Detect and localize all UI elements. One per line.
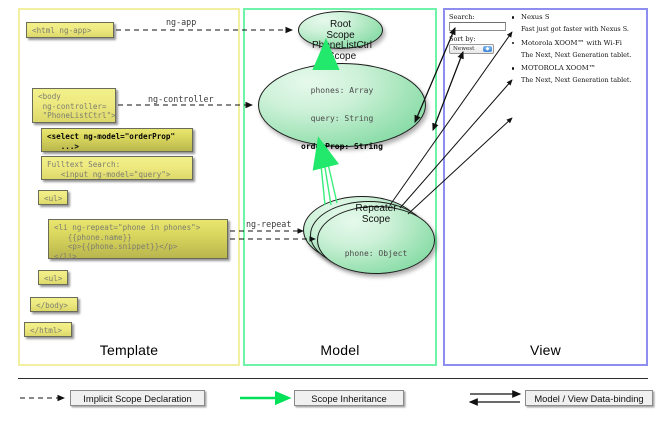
scope-repeater-title-line-2: Scope	[362, 214, 390, 226]
bullet-icon	[512, 42, 514, 44]
scope-property-query: query: String	[301, 114, 383, 123]
panel-label-view: View	[445, 342, 646, 358]
legend-scope-inheritance: Scope Inheritance	[294, 390, 404, 406]
code-box-input-tag: Fulltext Search: <input ng-model="query"…	[41, 156, 193, 180]
edge-label-ng-repeat: ng-repeat	[246, 219, 291, 229]
scope-property-orderprop: orderProp: String	[301, 142, 383, 151]
list-item[interactable]: Motorola XOOM™ with Wi-Fi The Next, Next…	[512, 39, 644, 59]
phone-snippet: The Next, Next Generation tablet.	[521, 76, 644, 84]
scope-property-phones: phones: Array	[301, 86, 383, 95]
scope-repeater: Repeater Scope phone: Object	[317, 206, 435, 274]
phone-name: MOTOROLA XOOM™	[521, 64, 644, 73]
chevron-updown-icon: ◆	[483, 46, 492, 52]
search-input[interactable]	[449, 22, 506, 31]
bullet-icon	[512, 67, 514, 69]
scope-phonelistctrl: PhoneListCtrl Scope phones: Array query:…	[258, 63, 426, 147]
search-label: Search:	[449, 13, 475, 21]
phone-snippet: The Next, Next Generation tablet.	[521, 51, 644, 59]
code-box-html-tag: <html ng-app>	[26, 22, 114, 38]
scope-phonelistctrl-properties: phones: Array query: String orderProp: S…	[301, 67, 383, 170]
phone-name: Motorola XOOM™ with Wi-Fi	[521, 39, 644, 48]
edge-label-ng-app: ng-app	[166, 17, 196, 27]
phone-snippet: Fast just got faster with Nexus S.	[521, 25, 644, 33]
code-box-ul-close-tag: <ul>	[38, 270, 68, 285]
list-item[interactable]: Nexus S Fast just got faster with Nexus …	[512, 13, 644, 33]
phone-list: Nexus S Fast just got faster with Nexus …	[512, 13, 644, 90]
view-app-preview: Search: Sort by: Newest ◆ Nexus S Fast j…	[449, 13, 643, 123]
legend-model-view-data-binding: Model / View Data-binding	[525, 390, 653, 406]
scope-phonelistctrl-title-line-1: PhoneListCtrl	[312, 40, 372, 52]
code-box-body-close-tag: </body>	[30, 297, 78, 312]
legend-arrow-databinding	[470, 394, 520, 402]
code-box-li-repeat-tag: <li ng-repeat="phone in phones"> {{phone…	[48, 219, 228, 259]
scope-repeater-properties: phone: Object	[345, 230, 408, 277]
phone-name: Nexus S	[521, 13, 644, 22]
code-box-ul-open-tag: <ul>	[38, 190, 68, 205]
scope-root-title-line-1: Root	[330, 19, 351, 31]
sort-by-label: Sort by:	[449, 35, 476, 43]
code-box-body-tag: <body ng-controller= "PhoneListCtrl">	[32, 88, 116, 123]
list-item[interactable]: MOTOROLA XOOM™ The Next, Next Generation…	[512, 64, 644, 84]
sort-by-selected-value: Newest	[453, 46, 474, 52]
code-box-select-tag: <select ng-model="orderProp" ...>	[41, 128, 193, 152]
scope-phonelistctrl-title-line-2: Scope	[328, 51, 356, 63]
sort-by-select[interactable]: Newest ◆	[449, 44, 494, 54]
diagram-canvas: Template Model View <html ng-app> <body …	[0, 0, 661, 425]
panel-label-template: Template	[20, 342, 238, 358]
panel-template: Template	[18, 8, 240, 366]
edge-label-ng-controller: ng-controller	[148, 94, 214, 104]
panel-label-model: Model	[245, 342, 435, 358]
scope-property-phone: phone: Object	[345, 249, 408, 258]
legend-implicit-scope-declaration: Implicit Scope Declaration	[70, 390, 205, 406]
code-box-html-close-tag: </html>	[24, 322, 72, 337]
scope-repeater-title-line-1: Repeater	[355, 203, 396, 215]
bullet-icon	[512, 16, 514, 18]
legend-divider	[18, 378, 648, 379]
